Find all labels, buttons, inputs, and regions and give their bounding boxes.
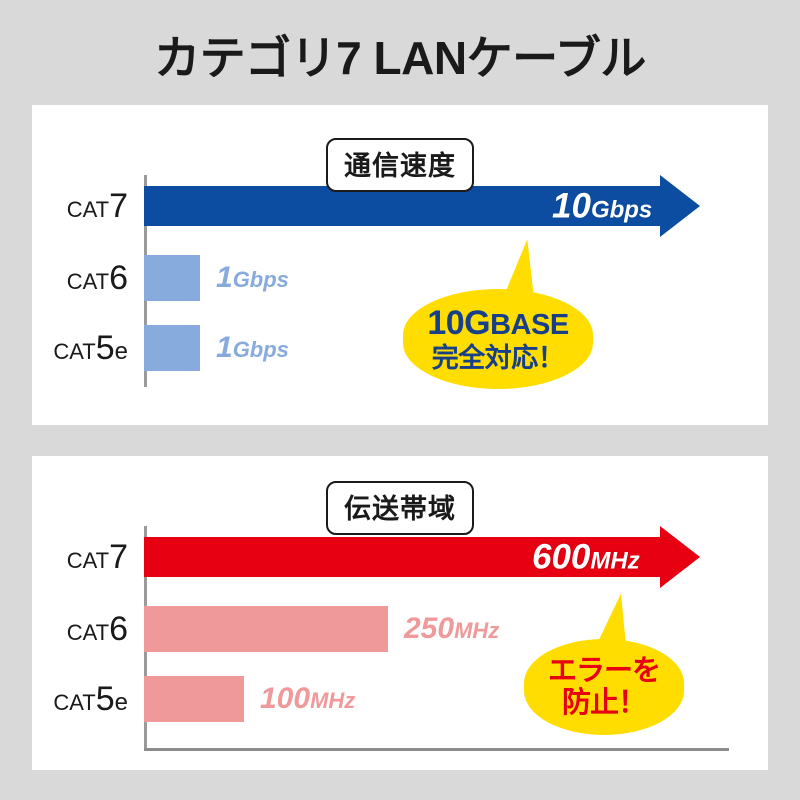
category-label-cat5e-bandwidth: CAT5e [53, 682, 128, 716]
panel-communication-speed: 通信速度 CAT7 10Gbps CAT6 1Gbps [32, 105, 768, 425]
bar-value-cat6-speed: 1Gbps [216, 263, 289, 293]
bar-value-cat7-bandwidth: 600MHz [532, 540, 640, 575]
callout-10gbase-line2: 完全対応！ [432, 344, 565, 372]
chart-bandwidth: CAT7 600MHz CAT6 250MHz CAT5e [144, 526, 768, 770]
chart-row-cat6-speed: CAT6 1Gbps [144, 255, 289, 301]
chart-baseline-bandwidth [144, 748, 729, 751]
category-label-cat6-bandwidth: CAT6 [67, 612, 128, 646]
arrow-head-icon [660, 175, 700, 237]
chart-row-cat6-bandwidth: CAT6 250MHz [144, 606, 499, 652]
callout-error-line2: 防止！ [562, 688, 646, 718]
arrow-head-icon [660, 526, 700, 588]
chart-row-cat5e-speed: CAT5e 1Gbps [144, 325, 289, 371]
callout-error-line1: エラーを [548, 656, 660, 686]
bar-value-cat7-speed: 10Gbps [552, 189, 652, 224]
page-title: カテゴリ7 LANケーブル [0, 22, 800, 88]
section-heading-speed: 通信速度 [326, 138, 474, 192]
category-label-cat7-speed: CAT7 [67, 189, 128, 223]
category-label-cat6-speed: CAT6 [67, 261, 128, 295]
callout-10gbase-line1: 10GBASE [427, 306, 568, 342]
bar-cat6-speed [144, 255, 200, 301]
callout-error-prevention: エラーを 防止！ [524, 639, 684, 735]
bar-value-cat6-bandwidth: 250MHz [404, 614, 499, 644]
category-label-cat7-bandwidth: CAT7 [67, 540, 128, 574]
bar-value-cat5e-speed: 1Gbps [216, 333, 289, 363]
chart-row-cat7-bandwidth: CAT7 600MHz [144, 526, 700, 588]
bar-cat5e-bandwidth [144, 676, 244, 722]
bar-value-cat5e-bandwidth: 100MHz [260, 684, 355, 714]
bar-cat5e-speed [144, 325, 200, 371]
chart-row-cat5e-bandwidth: CAT5e 100MHz [144, 676, 355, 722]
category-label-cat5e-speed: CAT5e [53, 331, 128, 365]
bar-cat6-bandwidth [144, 606, 388, 652]
callout-10gbase: 10GBASE 完全対応！ [403, 289, 593, 389]
bar-cat7-bandwidth: 600MHz [144, 526, 700, 588]
section-heading-bandwidth: 伝送帯域 [326, 481, 474, 535]
